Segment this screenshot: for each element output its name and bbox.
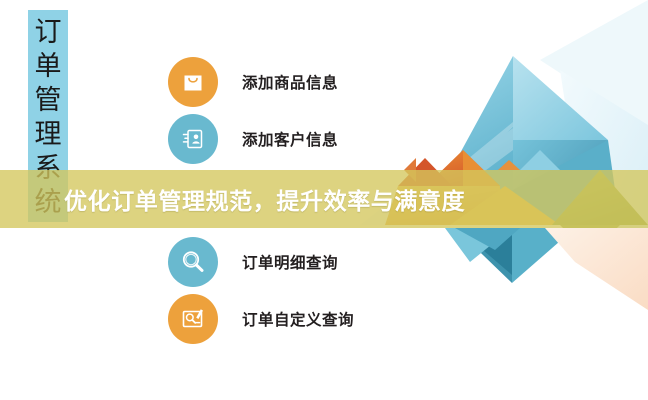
feature-label-add-customer: 添加客户信息 [242,128,338,150]
vertical-title-char-3: 管 [35,84,62,118]
shape-sand-panel [545,228,648,310]
vertical-title-char-1: 订 [35,16,62,50]
feature-label-order-detail-query: 订单明细查询 [242,251,338,273]
feature-label-order-custom-query: 订单自定义查询 [242,308,354,330]
banner-band: 优化订单管理规范，提升效率与满意度 [0,170,648,228]
feature-label-add-product: 添加商品信息 [242,71,338,93]
banner-headline: 优化订单管理规范，提升效率与满意度 [64,182,465,216]
contact-card-icon [168,114,218,164]
banner-image: 订 单 管 理 系 统 添加商品信息 [0,0,648,400]
vertical-title-char-4: 理 [35,118,62,152]
feature-item-add-customer[interactable]: 添加客户信息 [168,112,338,166]
feature-item-order-detail-query[interactable]: 订单明细查询 [168,235,338,289]
feature-item-add-product[interactable]: 添加商品信息 [168,55,338,109]
document-search-pen-icon [168,294,218,344]
magnifier-icon [168,237,218,287]
shopping-bag-icon [168,57,218,107]
feature-item-order-custom-query[interactable]: 订单自定义查询 [168,292,354,346]
vertical-title-char-2: 单 [35,50,62,84]
